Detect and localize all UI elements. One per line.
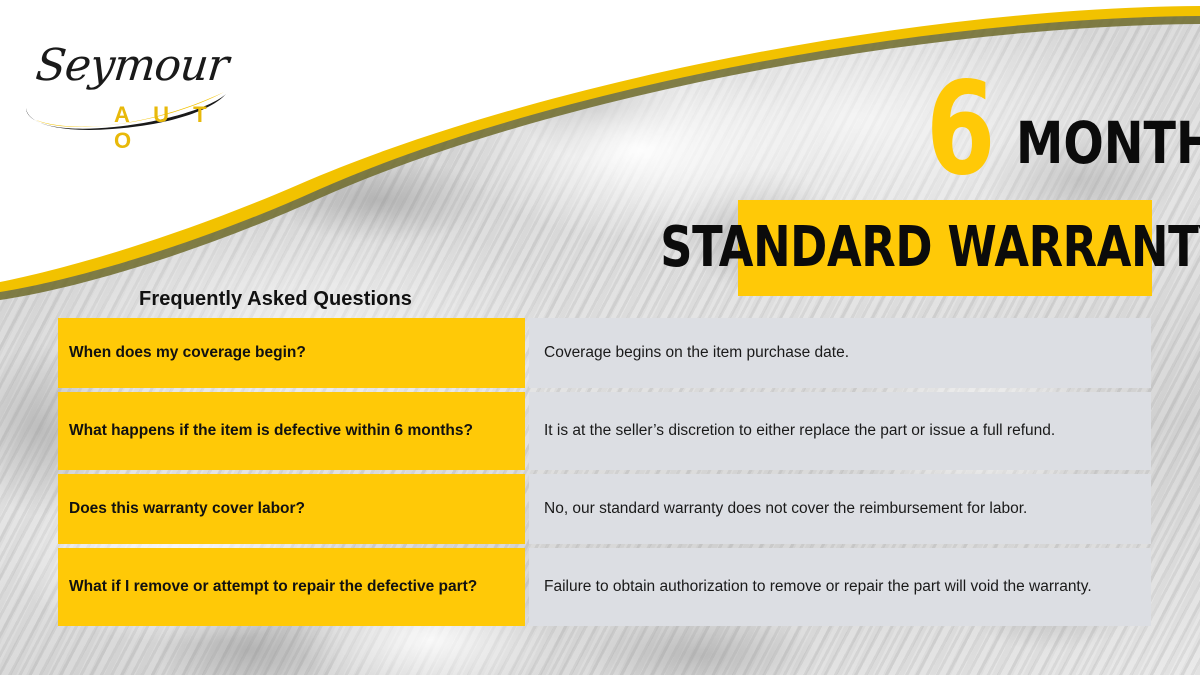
faq-question-text: What if I remove or attempt to repair th… — [69, 577, 477, 598]
brand-logo: Seymour A U T O — [18, 22, 238, 137]
logo-wordmark: Seymour — [33, 40, 230, 91]
faq-answer-text: No, our standard warranty does not cover… — [544, 498, 1137, 519]
table-row: Does this warranty cover labor? No, our … — [58, 474, 1151, 544]
faq-heading: Frequently Asked Questions — [139, 288, 412, 311]
faq-question-text: Does this warranty cover labor? — [69, 499, 305, 520]
banner-label: STANDARD WARRANTY — [660, 220, 1200, 276]
faq-table: When does my coverage begin? Coverage be… — [58, 318, 1151, 626]
table-row: What happens if the item is defective wi… — [58, 392, 1151, 470]
faq-question-cell: Does this warranty cover labor? — [58, 474, 525, 544]
faq-question-text: What happens if the item is defective wi… — [69, 421, 473, 442]
table-row: What if I remove or attempt to repair th… — [58, 548, 1151, 626]
faq-question-cell: What happens if the item is defective wi… — [58, 392, 525, 470]
faq-answer-text: Failure to obtain authorization to remov… — [544, 576, 1137, 597]
faq-question-cell: What if I remove or attempt to repair th… — [58, 548, 525, 626]
faq-question-text: When does my coverage begin? — [69, 343, 306, 364]
faq-answer-text: It is at the seller’s discretion to eith… — [544, 420, 1137, 441]
term-unit: MONTH — [1016, 114, 1200, 172]
logo-subtitle: A U T O — [114, 102, 238, 154]
warranty-slide: Seymour A U T O 6 MONTH STANDARD WARRANT… — [0, 0, 1200, 675]
faq-question-cell: When does my coverage begin? — [58, 318, 525, 388]
table-row: When does my coverage begin? Coverage be… — [58, 318, 1151, 388]
faq-answer-cell: Coverage begins on the item purchase dat… — [529, 318, 1151, 388]
faq-answer-cell: Failure to obtain authorization to remov… — [529, 548, 1151, 626]
faq-answer-cell: No, our standard warranty does not cover… — [529, 474, 1151, 544]
faq-answer-text: Coverage begins on the item purchase dat… — [544, 342, 1137, 363]
faq-answer-cell: It is at the seller’s discretion to eith… — [529, 392, 1151, 470]
term-number: 6 — [926, 66, 992, 194]
standard-warranty-banner: STANDARD WARRANTY — [738, 200, 1152, 296]
